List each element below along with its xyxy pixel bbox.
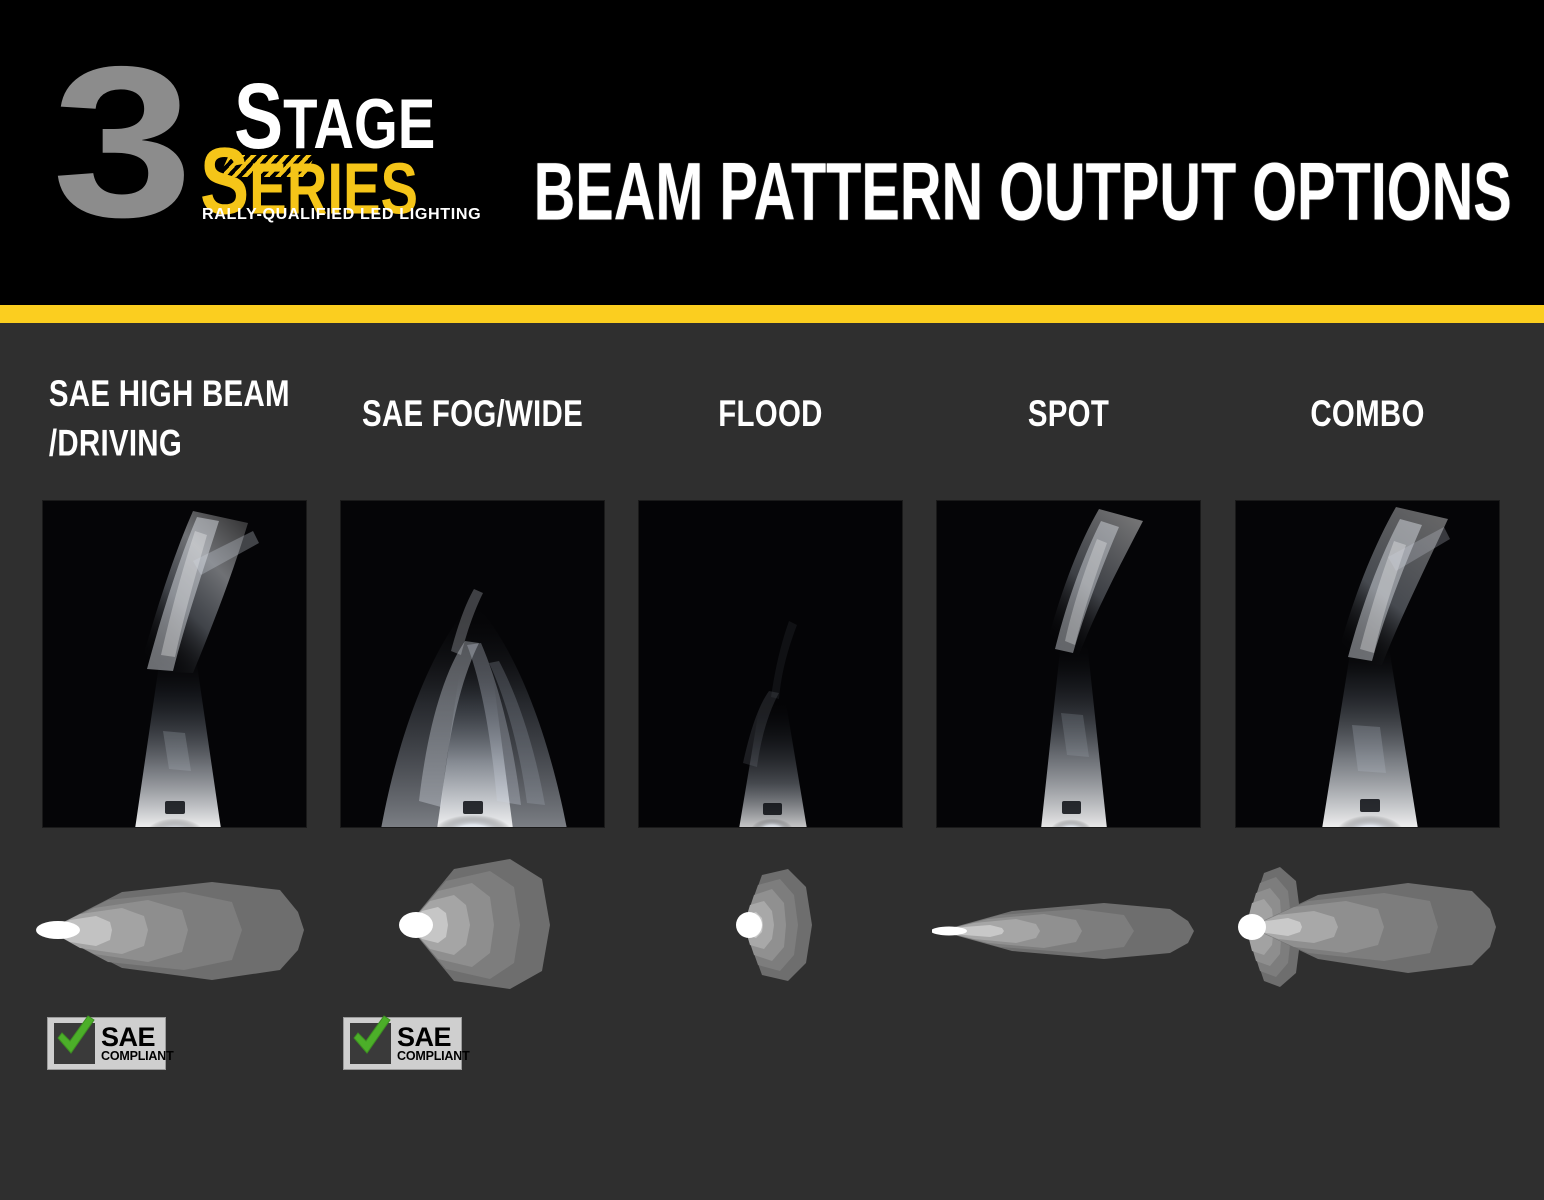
beam-photo-flood <box>638 500 903 828</box>
sae-badge-sub-label: COMPLIANT <box>397 1050 470 1063</box>
sae-compliant-badge-sae-high-beam-driving: SAE COMPLIANT <box>47 1017 166 1070</box>
sae-badge-text: SAE COMPLIANT <box>397 1025 470 1063</box>
green-check-icon <box>52 1014 98 1060</box>
column-header-flood: FLOOD <box>645 389 897 438</box>
content-area: SAE HIGH BEAM /DRIVING SAE FOG/WIDE FLOO… <box>0 323 1544 1200</box>
beam-photo-spot <box>936 500 1201 828</box>
beam-diagram-spot <box>932 889 1210 971</box>
header-bar: 3 STAGE SERIES RALLY-QUALIFIED LED LIGHT… <box>0 0 1544 305</box>
logo-tagline: RALLY-QUALIFIED LED LIGHTING <box>202 206 481 224</box>
beam-diagram-flood <box>722 861 840 989</box>
sae-badge-sub-label: COMPLIANT <box>101 1050 174 1063</box>
beam-pattern-infographic: 3 STAGE SERIES RALLY-QUALIFIED LED LIGHT… <box>0 0 1544 1200</box>
green-check-icon <box>348 1014 394 1060</box>
sae-badge-text: SAE COMPLIANT <box>101 1025 174 1063</box>
stage-series-logo: 3 STAGE SERIES RALLY-QUALIFIED LED LIGHT… <box>52 58 472 233</box>
sae-badge-main-label: SAE <box>101 1025 174 1050</box>
beam-diagram-sae-high-beam-driving <box>36 868 321 988</box>
page-title: BEAM PATTERN OUTPUT OPTIONS <box>534 152 1512 234</box>
beam-diagram-combo <box>1222 855 1512 997</box>
yellow-accent-bar <box>0 305 1544 323</box>
beam-photo-sae-fog-wide <box>340 500 605 828</box>
column-header-combo: COMBO <box>1242 389 1494 438</box>
sae-compliant-badge-sae-fog-wide: SAE COMPLIANT <box>343 1017 462 1070</box>
beam-diagram-sae-fog-wide <box>392 853 572 993</box>
column-header-spot: SPOT <box>943 389 1195 438</box>
column-header-sae-high-beam-driving: SAE HIGH BEAM /DRIVING <box>49 369 310 467</box>
column-header-sae-fog-wide: SAE FOG/WIDE <box>347 389 599 438</box>
logo-numeral-3: 3 <box>52 58 181 226</box>
beam-photo-sae-high-beam-driving <box>42 500 307 828</box>
beam-photo-combo <box>1235 500 1500 828</box>
sae-badge-main-label: SAE <box>397 1025 470 1050</box>
